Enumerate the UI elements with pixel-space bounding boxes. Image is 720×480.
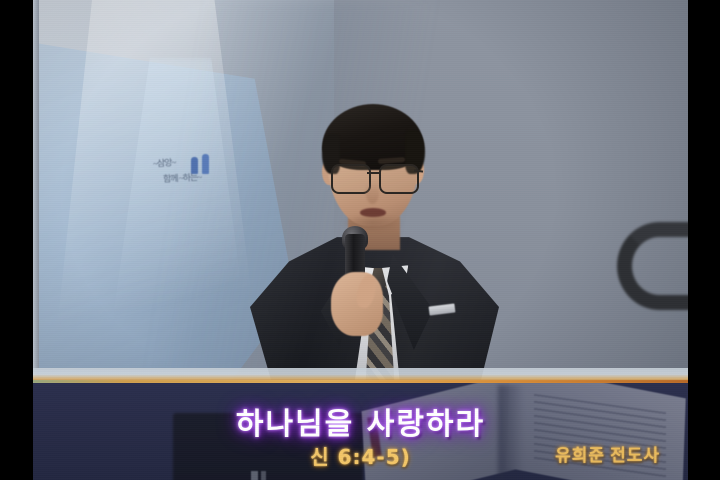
preacher-figure [223,104,523,380]
video-area: ~삼앙~ 함께 ~하는~ [33,0,688,480]
eyeglass-lens-right [379,164,419,194]
banner-stand-post [251,471,258,480]
banner-stand-post-secondary [261,471,266,480]
broadcast-frame: ~삼앙~ 함께 ~하는~ [0,0,720,480]
wall-logo-script-top: ~삼앙~ [153,155,176,170]
wall-logo-graphic: ~삼앙~ 함께 ~하는~ [151,144,229,192]
nose [366,182,379,204]
eyeglass-bridge [367,172,381,174]
wall-logo-figure-icon [202,154,209,174]
pillarbox-right [688,0,720,480]
lower-third-banner: 하나님을 사랑하라 신 6:4-5) 유희준전도사 [33,368,688,480]
pillarbox-left [0,0,33,480]
eyeglass-lens-left [331,164,371,194]
speaker-name: 유희준 [555,446,605,466]
speaker-role: 전도사 [610,446,660,466]
speaker-credit: 유희준전도사 [555,441,660,466]
wall-logo-script-bottom: 함께 ~하는~ [163,170,202,185]
sermon-title: 하나님을 사랑하라 [33,399,688,443]
banner-body: 하나님을 사랑하라 신 6:4-5) 유희준전도사 [33,383,688,480]
